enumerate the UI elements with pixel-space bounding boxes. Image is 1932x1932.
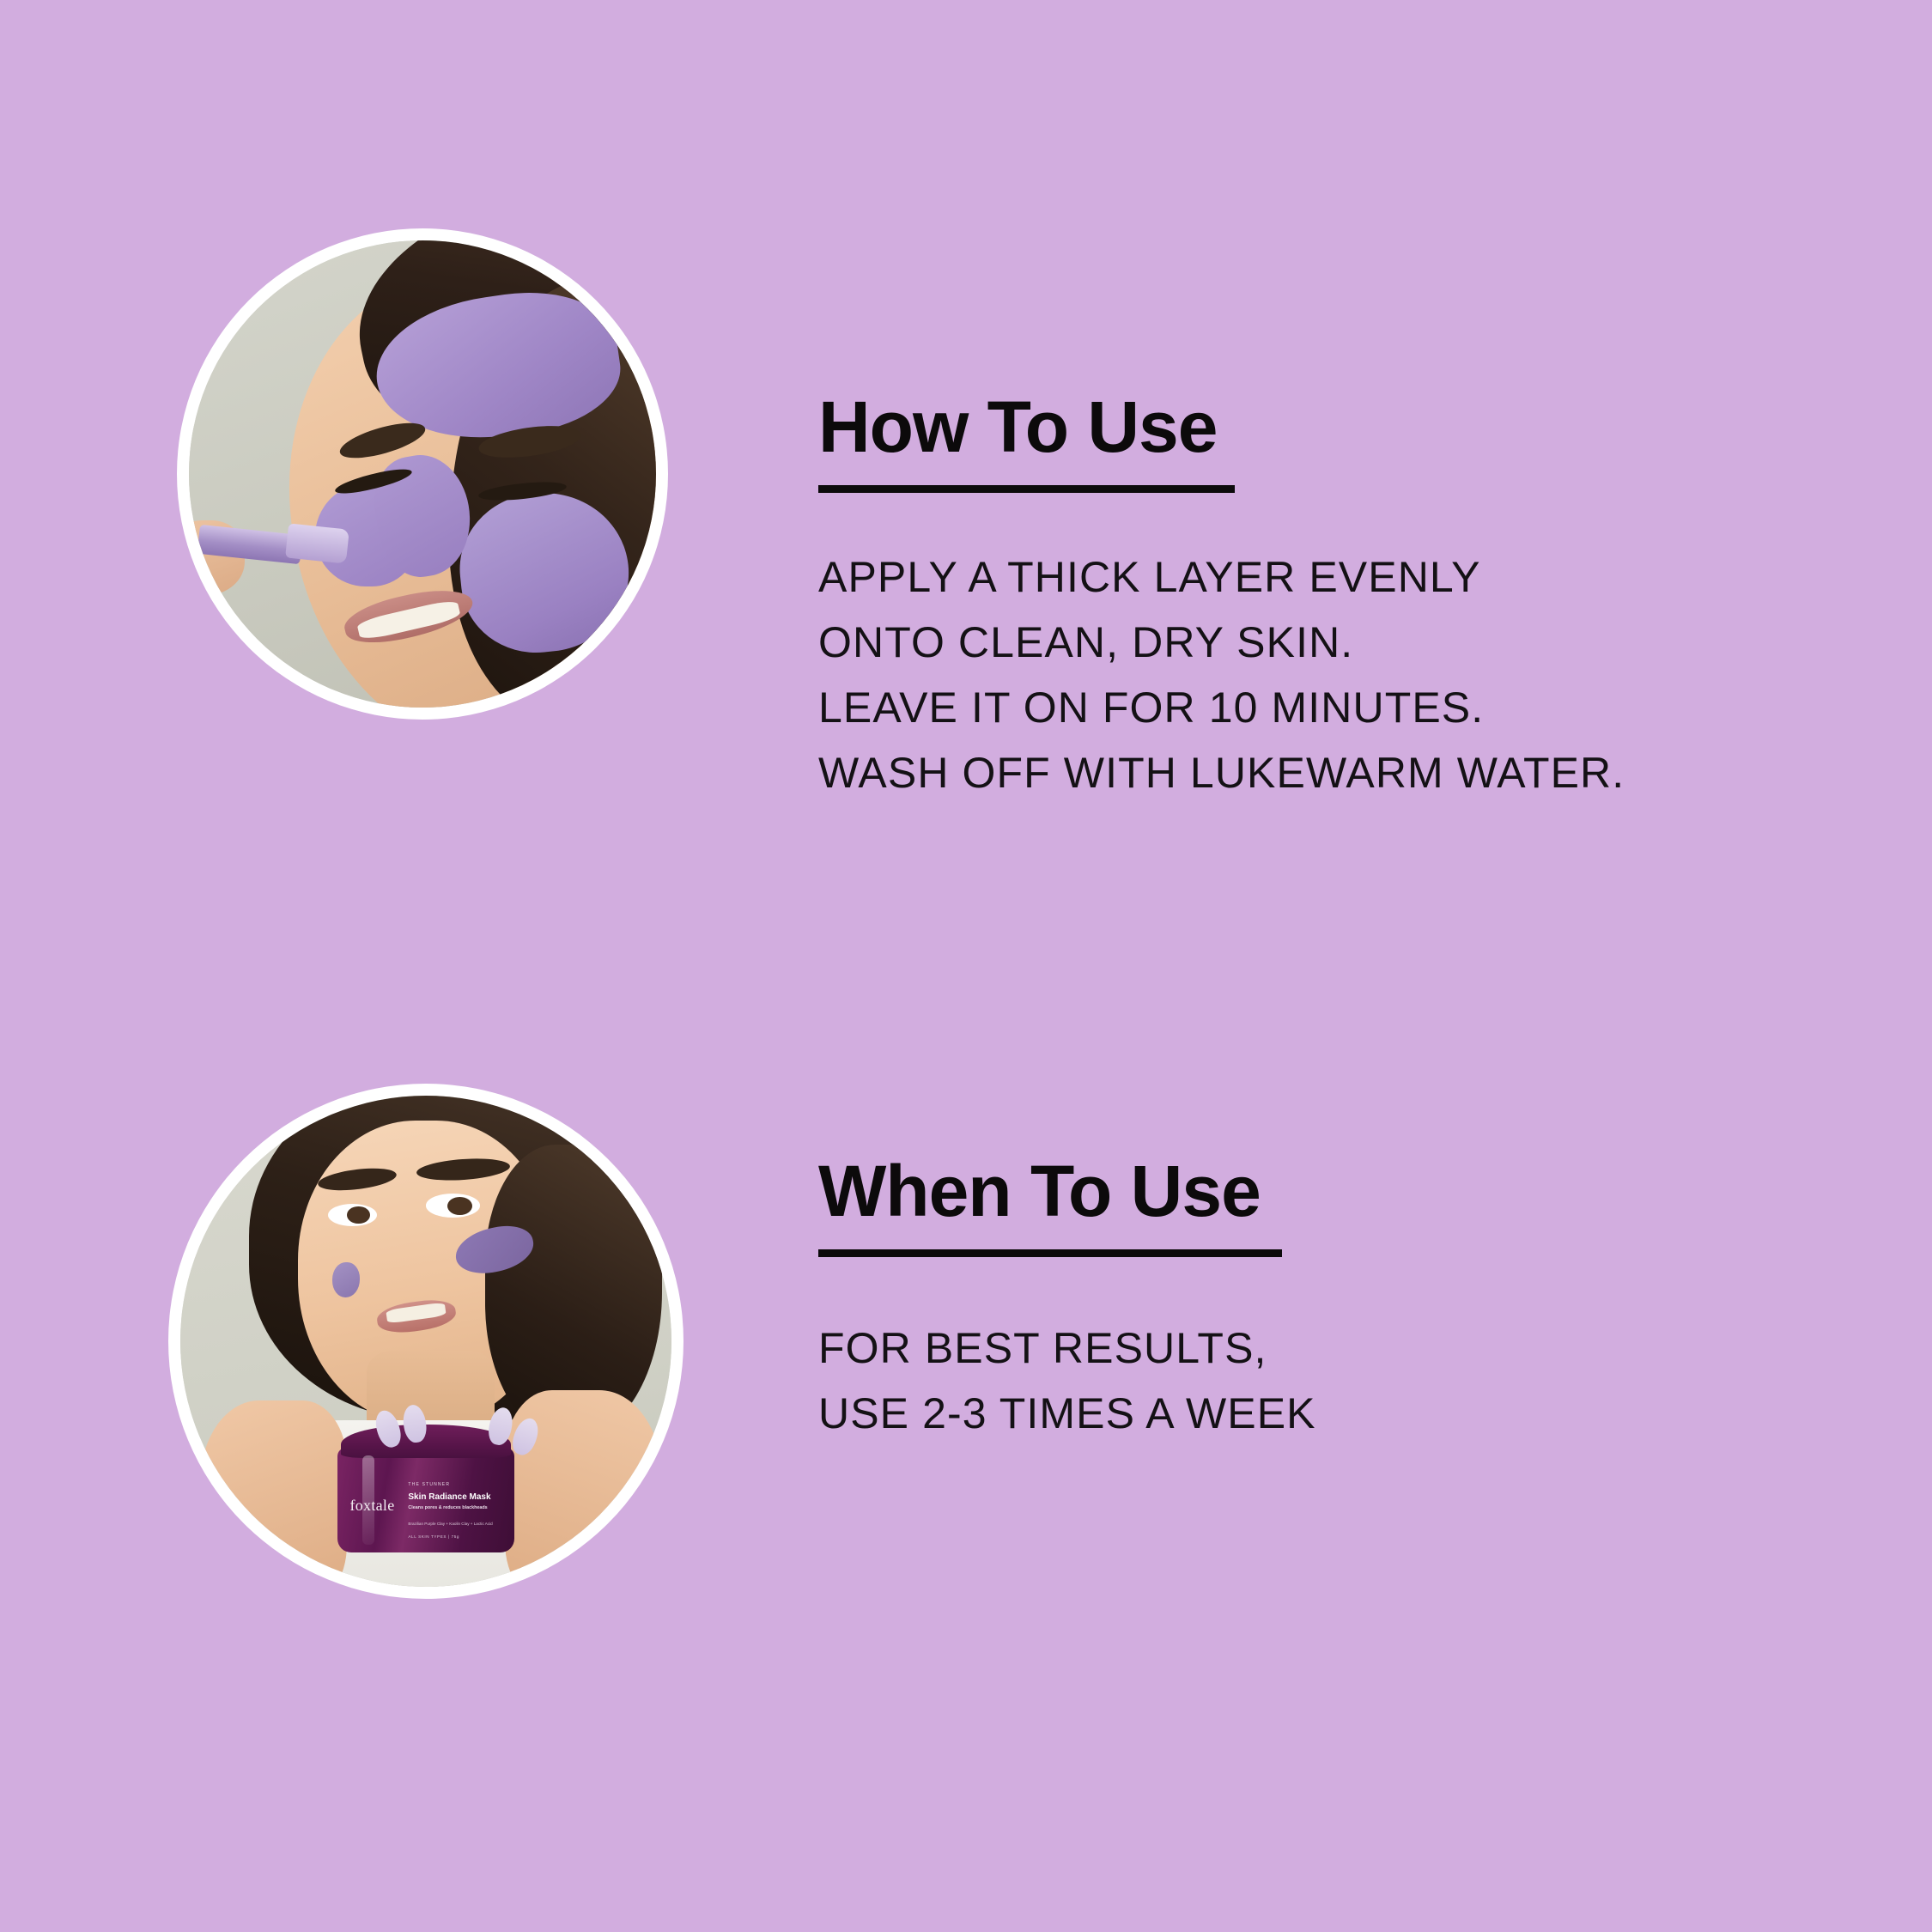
how-to-use-line-3: LEAVE IT ON FOR 10 MINUTES. [818,675,1625,740]
model-arm-left [200,1400,348,1587]
when-to-use-text-block: When To Use FOR BEST RESULTS, USE 2-3 TI… [818,1155,1316,1446]
when-to-use-line-2: USE 2-3 TIMES A WEEK [818,1381,1316,1446]
product-eyebrow-label: THE STUNNER [408,1482,450,1487]
when-to-use-body: FOR BEST RESULTS, USE 2-3 TIMES A WEEK [818,1315,1316,1446]
how-to-use-photo [177,228,668,720]
product-jar: foxtale THE STUNNER Skin Radiance Mask C… [337,1425,514,1552]
product-footer-label: ALL SKIN TYPES | 75g [408,1534,459,1539]
how-to-use-line-2: ONTO CLEAN, DRY SKIN. [818,610,1625,675]
when-to-use-photo: foxtale THE STUNNER Skin Radiance Mask C… [168,1084,683,1599]
how-to-use-line-4: WASH OFF WITH LUKEWARM WATER. [818,740,1625,805]
how-to-use-heading-rule [818,485,1235,493]
when-to-use-heading: When To Use [818,1155,1316,1227]
how-to-use-line-1: APPLY A THICK LAYER EVENLY [818,544,1625,610]
model-eye-left [328,1204,377,1226]
how-to-use-photo-inner [189,240,656,708]
product-brand-label: foxtale [349,1497,394,1515]
product-ingredients-label: Brazilian Purple Clay + Kaolin Clay + La… [408,1522,492,1526]
when-to-use-heading-rule [818,1249,1282,1257]
promo-canvas: How To Use APPLY A THICK LAYER EVENLY ON… [0,0,1932,1932]
mask-swatch-nose [332,1262,359,1297]
applicator-brush-tip [285,523,349,563]
when-to-use-photo-inner: foxtale THE STUNNER Skin Radiance Mask C… [180,1096,671,1587]
model-eye-right [426,1194,480,1217]
model-pupil-right [447,1197,472,1215]
product-description-line-1: Cleans pores & reduces blackheads [408,1505,487,1511]
how-to-use-heading: How To Use [818,391,1625,463]
model-pupil-left [347,1206,369,1224]
product-name-label: Skin Radiance Mask [408,1492,490,1502]
how-to-use-text-block: How To Use APPLY A THICK LAYER EVENLY ON… [818,391,1625,805]
how-to-use-body: APPLY A THICK LAYER EVENLY ONTO CLEAN, D… [818,544,1625,805]
when-to-use-line-1: FOR BEST RESULTS, [818,1315,1316,1381]
